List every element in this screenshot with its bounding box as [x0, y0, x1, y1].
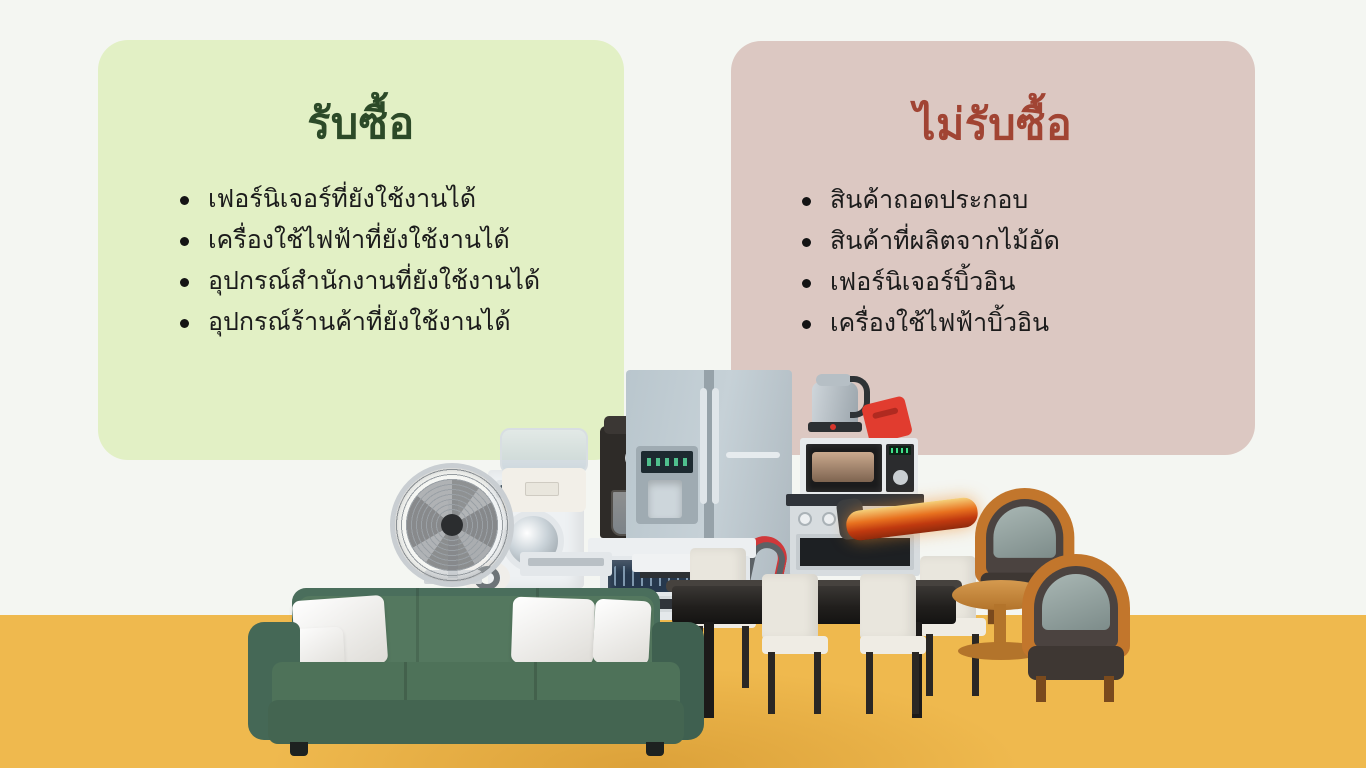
list-item: สินค้าถอดประกอบ [800, 179, 1255, 220]
list-item: เครื่องใช้ไฟฟ้าบิ้วอิน [800, 302, 1255, 343]
list-item: สินค้าที่ผลิตจากไม้อัด [800, 220, 1255, 261]
accept-card: รับซื้อ เฟอร์นิเจอร์ที่ยังใช้งานได้ เครื… [98, 40, 624, 460]
background-band-yellow [0, 615, 1366, 768]
accept-card-title: รับซื้อ [98, 103, 624, 146]
list-item: อุปกรณ์สำนักงานที่ยังใช้งานได้ [178, 260, 624, 301]
reject-card-list: สินค้าถอดประกอบ สินค้าที่ผลิตจากไม้อัด เ… [731, 179, 1255, 343]
list-item: อุปกรณ์ร้านค้าที่ยังใช้งานได้ [178, 301, 624, 342]
reject-card-title: ไม่รับซื้อ [731, 104, 1255, 147]
accept-card-list: เฟอร์นิเจอร์ที่ยังใช้งานได้ เครื่องใช้ไฟ… [98, 178, 624, 342]
list-item: เฟอร์นิเจอร์บิ้วอิน [800, 261, 1255, 302]
reject-card: ไม่รับซื้อ สินค้าถอดประกอบ สินค้าที่ผลิต… [731, 41, 1255, 455]
slide-canvas: รับซื้อ เฟอร์นิเจอร์ที่ยังใช้งานได้ เครื… [0, 0, 1366, 768]
list-item: เครื่องใช้ไฟฟ้าที่ยังใช้งานได้ [178, 219, 624, 260]
list-item: เฟอร์นิเจอร์ที่ยังใช้งานได้ [178, 178, 624, 219]
